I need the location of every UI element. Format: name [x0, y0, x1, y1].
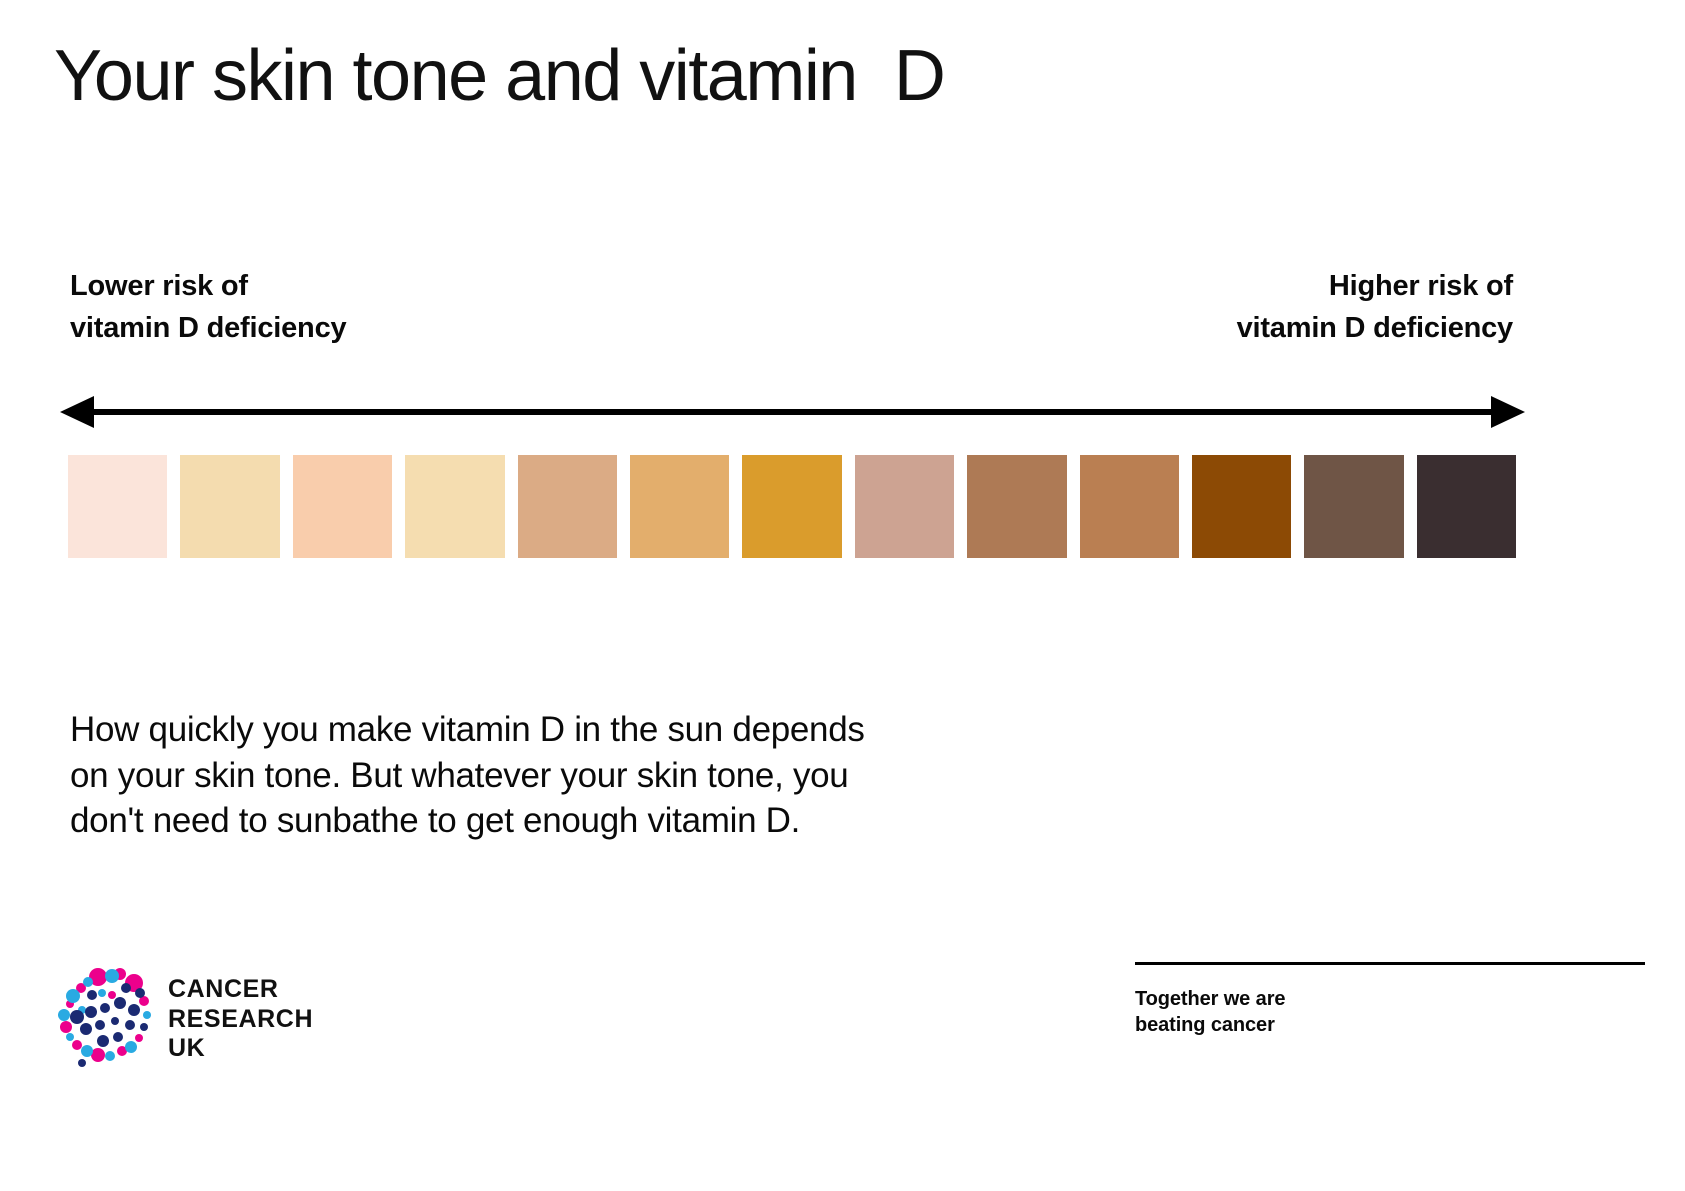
skin-tone-swatch-4: [405, 455, 504, 558]
skin-tone-swatch-7: [742, 455, 841, 558]
skin-tone-swatch-12: [1304, 455, 1403, 558]
skin-tone-swatch-3: [293, 455, 392, 558]
strapline-text: Together we are beating cancer: [1135, 987, 1645, 1038]
skin-tone-swatch-9: [967, 455, 1066, 558]
footer-logo-block: CANCER RESEARCH UK: [46, 955, 376, 1075]
logo-wordmark: CANCER RESEARCH UK: [168, 975, 313, 1064]
strapline-divider: [1135, 962, 1645, 965]
skin-tone-swatch-5: [518, 455, 617, 558]
skin-tone-swatch-11: [1192, 455, 1291, 558]
footer-strapline-block: Together we are beating cancer: [1135, 962, 1645, 1038]
risk-scale-arrow: [60, 390, 1525, 434]
skin-tone-swatch-13: [1417, 455, 1516, 558]
page-title: Your skin tone and vitamin D: [54, 40, 944, 112]
cancer-research-uk-logo-icon: [46, 955, 164, 1073]
skin-tone-swatch-row: [68, 455, 1516, 558]
skin-tone-swatch-10: [1080, 455, 1179, 558]
higher-risk-label: Higher risk of vitamin D deficiency: [1237, 265, 1513, 349]
skin-tone-swatch-1: [68, 455, 167, 558]
skin-tone-swatch-6: [630, 455, 729, 558]
infographic-page: Your skin tone and vitamin D Lower risk …: [0, 0, 1685, 1191]
skin-tone-swatch-8: [855, 455, 954, 558]
skin-tone-swatch-2: [180, 455, 279, 558]
logo-dot-cluster: [46, 955, 164, 1073]
body-paragraph: How quickly you make vitamin D in the su…: [70, 707, 1130, 844]
double-arrow-icon: [60, 390, 1525, 434]
arrow-head-right: [1491, 396, 1525, 428]
lower-risk-label: Lower risk of vitamin D deficiency: [70, 265, 346, 349]
arrow-head-left: [60, 396, 94, 428]
